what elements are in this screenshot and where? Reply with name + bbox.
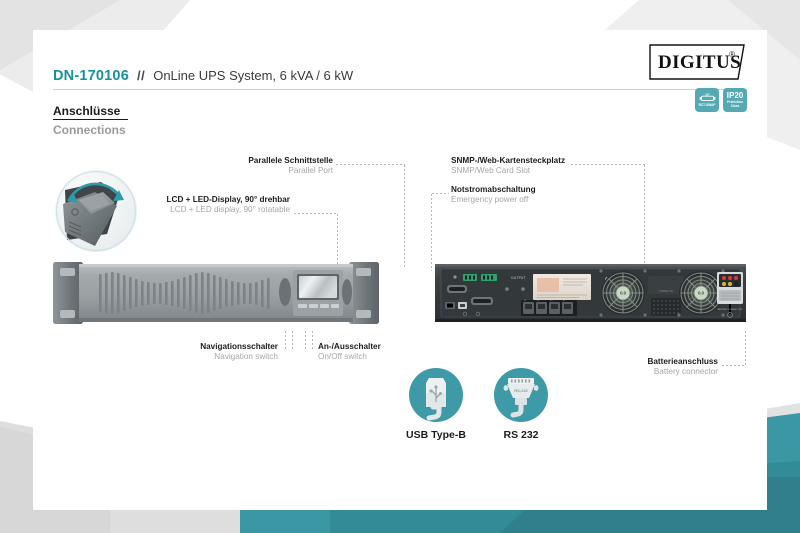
svg-text:0.0: 0.0: [620, 291, 626, 296]
leader-onoff-v: [305, 330, 306, 350]
leader-parallel-h: [335, 164, 405, 165]
svg-text:POWER ON: POWER ON: [659, 290, 673, 293]
section-title-en: Connections: [53, 123, 128, 137]
svg-text:OUTPUT: OUTPUT: [511, 276, 526, 280]
svg-text:0.0: 0.0: [698, 291, 704, 296]
usb-type-b-icon-circle: [409, 368, 463, 422]
product-model: OnLine UPS System, 6 kVA / 6 kW: [153, 68, 353, 83]
callout-lcd-display-en: LCD + LED display, 90° rotatable: [115, 205, 290, 215]
rack-mount-badge-sub: RCT-SWAP: [699, 104, 716, 107]
callout-parallel-port-de: Parallele Schnittstelle: [218, 156, 333, 166]
callout-emergency-power-off-en: Emergency power off: [451, 195, 536, 205]
feature-badges: 19" RCT-SWAP IP20 Protection Class: [695, 88, 747, 112]
product-header: DN-170106 // OnLine UPS System, 6 kVA / …: [53, 68, 747, 90]
ip20-badge: IP20 Protection Class: [723, 88, 747, 112]
callout-onoff-switch-en: On/Off switch: [318, 352, 381, 362]
callout-emergency-power-off-de: Notstromabschaltung: [451, 185, 536, 195]
section-title-de: Anschlüsse: [53, 104, 128, 120]
ups-front-panel: [51, 258, 381, 328]
svg-text:RS-232: RS-232: [514, 388, 528, 393]
rack-mount-badge: 19" RCT-SWAP: [695, 88, 719, 112]
datasheet-page: DIGITUS ® DN-170106 // OnLine UPS System…: [33, 30, 767, 510]
leader-epo-v: [431, 193, 432, 271]
callout-snmp-slot: SNMP-/Web-Kartensteckplatz SNMP/Web Card…: [451, 156, 565, 177]
section-heading: Anschlüsse Connections: [53, 102, 128, 137]
callout-onoff-switch-de: An-/Ausschalter: [318, 342, 381, 352]
usb-type-b-connector: USB Type-B: [396, 368, 476, 441]
ip20-badge-main: IP20: [727, 92, 743, 100]
leader-onoff-v2: [312, 330, 313, 350]
usb-type-b-label: USB Type-B: [396, 429, 476, 441]
usb-type-b-icon: [409, 368, 463, 422]
callout-battery-connector-en: Battery connector: [578, 367, 718, 377]
callout-parallel-port: Parallele Schnittstelle Parallel Port: [218, 156, 333, 177]
callout-emergency-power-off: Notstromabschaltung Emergency power off: [451, 185, 536, 206]
svg-text:BATTERY CONNECTOR: BATTERY CONNECTOR: [718, 308, 743, 311]
leader-parallel-v: [404, 164, 405, 268]
rs232-connector: RS-232 RS 232: [481, 368, 561, 441]
leader-lcd-h: [293, 213, 338, 214]
leader-battery-v: [745, 330, 746, 366]
db9-serial-icon: RS-232: [494, 368, 548, 422]
ups-rear-panel: OUTPUT CE ///: [433, 258, 748, 328]
callout-parallel-port-en: Parallel Port: [218, 166, 333, 176]
callout-onoff-switch: An-/Ausschalter On/Off switch: [318, 342, 381, 363]
callout-navigation-switch: Navigationsschalter Navigation switch: [163, 342, 278, 363]
leader-snmp-v: [644, 164, 645, 270]
callout-battery-connector: Batterieanschluss Battery connector: [578, 357, 718, 378]
ip20-badge-sub: Protection Class: [723, 101, 747, 107]
rs232-label: RS 232: [481, 429, 561, 441]
callout-snmp-slot-en: SNMP/Web Card Slot: [451, 166, 565, 176]
header-separator: //: [137, 68, 145, 83]
logo-registered-mark: ®: [729, 50, 735, 59]
callout-snmp-slot-de: SNMP-/Web-Kartensteckplatz: [451, 156, 565, 166]
leader-nav-v: [285, 330, 286, 350]
db9-serial-icon-circle: RS-232: [494, 368, 548, 422]
leader-battery-h: [721, 365, 746, 366]
callout-lcd-display-de: LCD + LED-Display, 90° drehbar: [115, 195, 290, 205]
leader-epo-h: [431, 193, 449, 194]
callout-lcd-display: LCD + LED-Display, 90° drehbar LCD + LED…: [115, 195, 290, 216]
callout-navigation-switch-en: Navigation switch: [163, 352, 278, 362]
product-sku: DN-170106: [53, 68, 129, 84]
leader-nav-v2: [292, 330, 293, 350]
leader-snmp-h: [570, 164, 645, 165]
callout-navigation-switch-de: Navigationsschalter: [163, 342, 278, 352]
callout-battery-connector-de: Batterieanschluss: [578, 357, 718, 367]
